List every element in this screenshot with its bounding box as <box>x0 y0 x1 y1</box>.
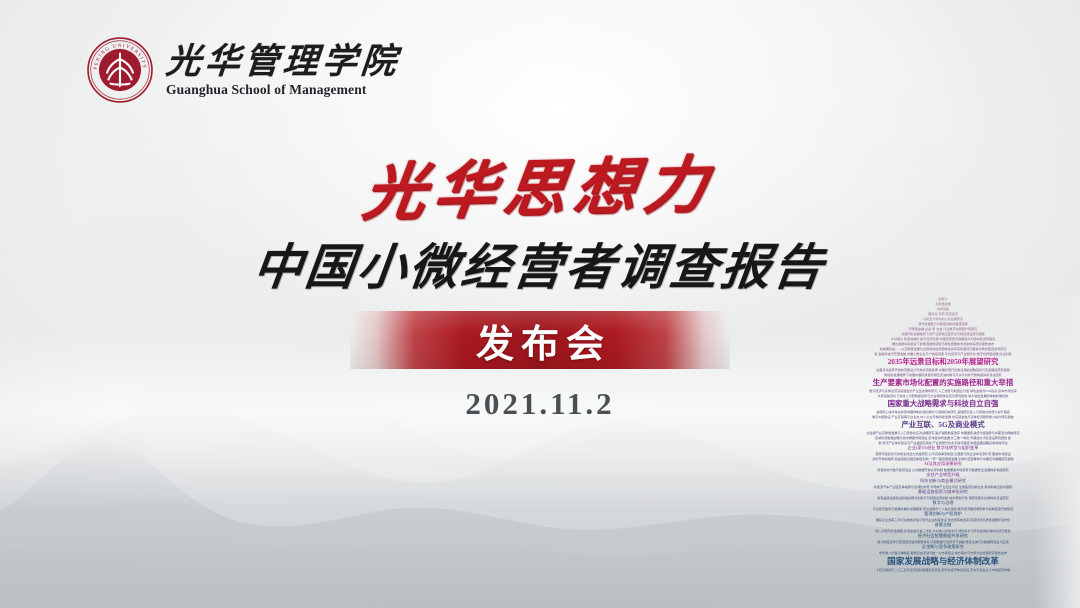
word-cloud-phrase: 创新力 <box>938 296 947 301</box>
word-cloud-phrase: 普惠金融 <box>935 522 952 528</box>
word-cloud-row: 科技创新与商业模式研究 <box>806 478 1080 484</box>
word-cloud-phrase: 国有企业改革三年行动成效评估与现代企业制度建设 混合所有制改革 民营经济高质量发… <box>876 517 1011 522</box>
word-cloud-row: 普惠金融 <box>806 522 1080 528</box>
brand-calligraphy-text: 光华思想力 <box>358 134 721 233</box>
word-cloud-row: 平台经济监管与发展并重的治理框架 算法治理与个人信息保护 数字经济国际规则参与和… <box>806 506 1080 511</box>
word-cloud-row: 创新力 <box>928 296 958 301</box>
word-cloud-row: 经济社会智慧数据共享研究 <box>806 533 1080 539</box>
word-cloud-row: 新型基础设施建设投融资模式创新与可持续运营机制 城市更新行动 保障性租赁住房体系… <box>806 495 1080 500</box>
word-cloud-phrase: 支柱产业转型升级 <box>926 472 960 478</box>
page-title: 中国小微经营者调查报告 <box>0 228 1080 299</box>
word-cloud-row: 新 现代产业体系建设与产业基础高级化 产业链现代化水平提升路径 制造强国战略实施… <box>806 440 1080 445</box>
word-cloud-row: 新能源汽车产业链竞争格局与全球化布局 半导体产业自主可控 生物医药创新生态 新材… <box>806 484 1080 489</box>
word-cloud-phrase: 高质量发展 <box>935 301 950 306</box>
word-cloud-row: 收入分配与社会保障 养老金融与第三支柱 乡村振兴金融支持 绿色信贷与转型金融标准… <box>806 528 1080 533</box>
word-cloud-phrase: 国家发展战略与经济体制改革 <box>887 555 999 567</box>
word-cloud-row: 管理创新与产权保护 <box>806 511 1080 517</box>
logo-text-block: 光华管理学院 Guanghua School of Management <box>166 42 400 99</box>
word-cloud-phrase: 统计制度改革与宏观经济监测预警体系 高频数据与经济景气指数 微观主体行为数据库建… <box>877 539 1008 544</box>
main-title-text: 中国小微经营者调查报告 <box>250 228 831 299</box>
word-cloud-phrase: 市场准入负面清单制度 要素自由流动与统一大市场建设 地方保护与市场分割治理研究报… <box>879 550 1007 555</box>
school-name-cn: 光华管理学院 <box>164 44 401 80</box>
word-cloud-row: AI及其应用场景研究 <box>806 461 1080 467</box>
word-cloud-phrase: 营商环境优化与市场主体活力激发研究 公平竞争审查制度 反垄断与防止资本无序扩张 … <box>875 451 1010 456</box>
mountain-layer-foreground <box>0 478 1080 608</box>
word-cloud-row: 基础设施投资与城市化研究 <box>806 489 1080 495</box>
slide-canvas: PEKING UNIVERSITY 1898 光华管理学院 Guanghua S… <box>0 0 1080 608</box>
word-cloud-row: 对外开放新格局 自由贸易试验区制度创新 一带一路高质量发展 全球价值链重构与中国… <box>806 456 1080 461</box>
school-name-en: Guanghua School of Management <box>166 82 400 98</box>
word-cloud-row: 智慧城市与数字政府建设 公共数据开放共享机制 数据要素市场培育与数据安全治理体系… <box>806 467 1080 472</box>
word-cloud-phrase: 管理创新与产权保护 <box>924 511 962 517</box>
banner-label-text: 发布会 <box>0 311 1080 369</box>
peking-university-seal-icon: PEKING UNIVERSITY 1898 <box>86 36 154 104</box>
word-cloud-phrase: 智慧城市与数字政府建设 公共数据开放共享机制 数据要素市场培育与数据安全治理体系… <box>877 467 1008 472</box>
word-cloud-phrase: 反垄断与竞争政策研究 <box>922 544 964 550</box>
word-cloud-row: 构建新发展格局下的国内国际双循环相互促进机制与高水平对外开放制度体系建设研究 <box>831 372 1055 377</box>
word-cloud-phrase: 企业(家)与创业 数字化转型与组织变革 <box>908 445 979 451</box>
word-cloud-row: 市场准入负面清单制度 要素自由流动与统一大市场建设 地方保护与市场分割治理研究报… <box>806 550 1080 555</box>
word-cloud-phrase: 新型基础设施建设投融资模式创新与可持续运营机制 城市更新行动 保障性租赁住房体系… <box>877 495 1008 500</box>
word-cloud-row: 反垄断与竞争政策研究 <box>806 544 1080 550</box>
word-cloud-row: 营商环境优化与市场主体活力激发研究 公平竞争审查制度 反垄断与防止资本无序扩张 … <box>806 451 1080 456</box>
word-cloud-phrase: AI及其应用场景研究 <box>924 461 962 467</box>
word-cloud-phrase: 区域协调发展战略与城市群都市圈建设 京津冀协同发展 长三角一体化 粤港澳大湾区建… <box>875 435 1011 440</box>
word-cloud-row: 十四五规划与二〇三五年远景目标纲要实施评估 现代化经济体系建设 高水平社会主义市… <box>806 567 1080 572</box>
word-cloud-row: 企业(家)与创业 数字化转型与组织变革 <box>806 445 1080 451</box>
guanghua-logo-lockup: PEKING UNIVERSITY 1898 光华管理学院 Guanghua S… <box>86 36 400 104</box>
brand-calligraphy-title: 光华思想力 <box>0 138 1080 228</box>
word-cloud-row: 区域协调发展战略与城市群都市圈建设 京津冀协同发展 长三角一体化 粤港澳大湾区建… <box>808 435 1078 440</box>
word-cloud-row: 国有企业改革三年行动成效评估与现代企业制度建设 混合所有制改革 民营经济高质量发… <box>806 517 1080 522</box>
word-cloud-phrase: 十四五规划与二〇三五年远景目标纲要实施评估 现代化经济体系建设 高水平社会主义市… <box>876 567 1011 572</box>
word-cloud-phrase: 新 现代产业体系建设与产业基础高级化 产业链现代化水平提升路径 制造强国战略实施… <box>878 440 1007 445</box>
word-cloud-phrase: 基础设施投资与城市化研究 <box>918 489 968 495</box>
word-cloud-phrase: 新能源汽车产业链竞争格局与全球化布局 半导体产业自主可控 生物医药创新生态 新材… <box>874 484 1012 489</box>
word-cloud-phrase: 对外开放新格局 自由贸易试验区制度创新 一带一路高质量发展 全球价值链重构与中国… <box>872 456 1014 461</box>
event-date: 2021.11.2 <box>0 386 1080 422</box>
word-cloud-phrase: 数字与治理 <box>933 500 954 506</box>
word-cloud-phrase: 经济社会智慧数据共享研究 <box>918 533 968 539</box>
word-cloud-phrase: 构建新发展格局下的国内国际双循环相互促进机制与高水平对外开放制度体系建设研究 <box>884 372 1002 377</box>
word-cloud-row: 高质量发展 <box>923 301 963 306</box>
word-cloud-phrase: 收入分配与社会保障 养老金融与第三支柱 乡村振兴金融支持 绿色信贷与转型金融标准… <box>875 528 1010 533</box>
word-cloud-row: 支柱产业转型升级 <box>806 472 1080 478</box>
event-type-banner: 发布会 <box>0 311 1080 369</box>
word-cloud-row: 大健康产业高质量发展与人口老龄化应对战略研究 医疗保障制度改革 中国居民消费升级… <box>810 430 1076 435</box>
mountain-layer-near <box>0 393 1080 608</box>
word-cloud-phrase: 平台经济监管与发展并重的治理框架 算法治理与个人信息保护 数字经济国际规则参与和… <box>873 506 1014 511</box>
word-cloud-row: 国家发展战略与经济体制改革 <box>806 555 1080 567</box>
word-cloud-row: 统计制度改革与宏观经济监测预警体系 高频数据与经济景气指数 微观主体行为数据库建… <box>806 539 1080 544</box>
word-cloud-phrase: 大健康产业高质量发展与人口老龄化应对战略研究 医疗保障制度改革 中国居民消费升级… <box>866 430 1019 435</box>
word-cloud-row: 数字与治理 <box>806 500 1080 506</box>
word-cloud-phrase: 科技创新与商业模式研究 <box>920 478 966 484</box>
